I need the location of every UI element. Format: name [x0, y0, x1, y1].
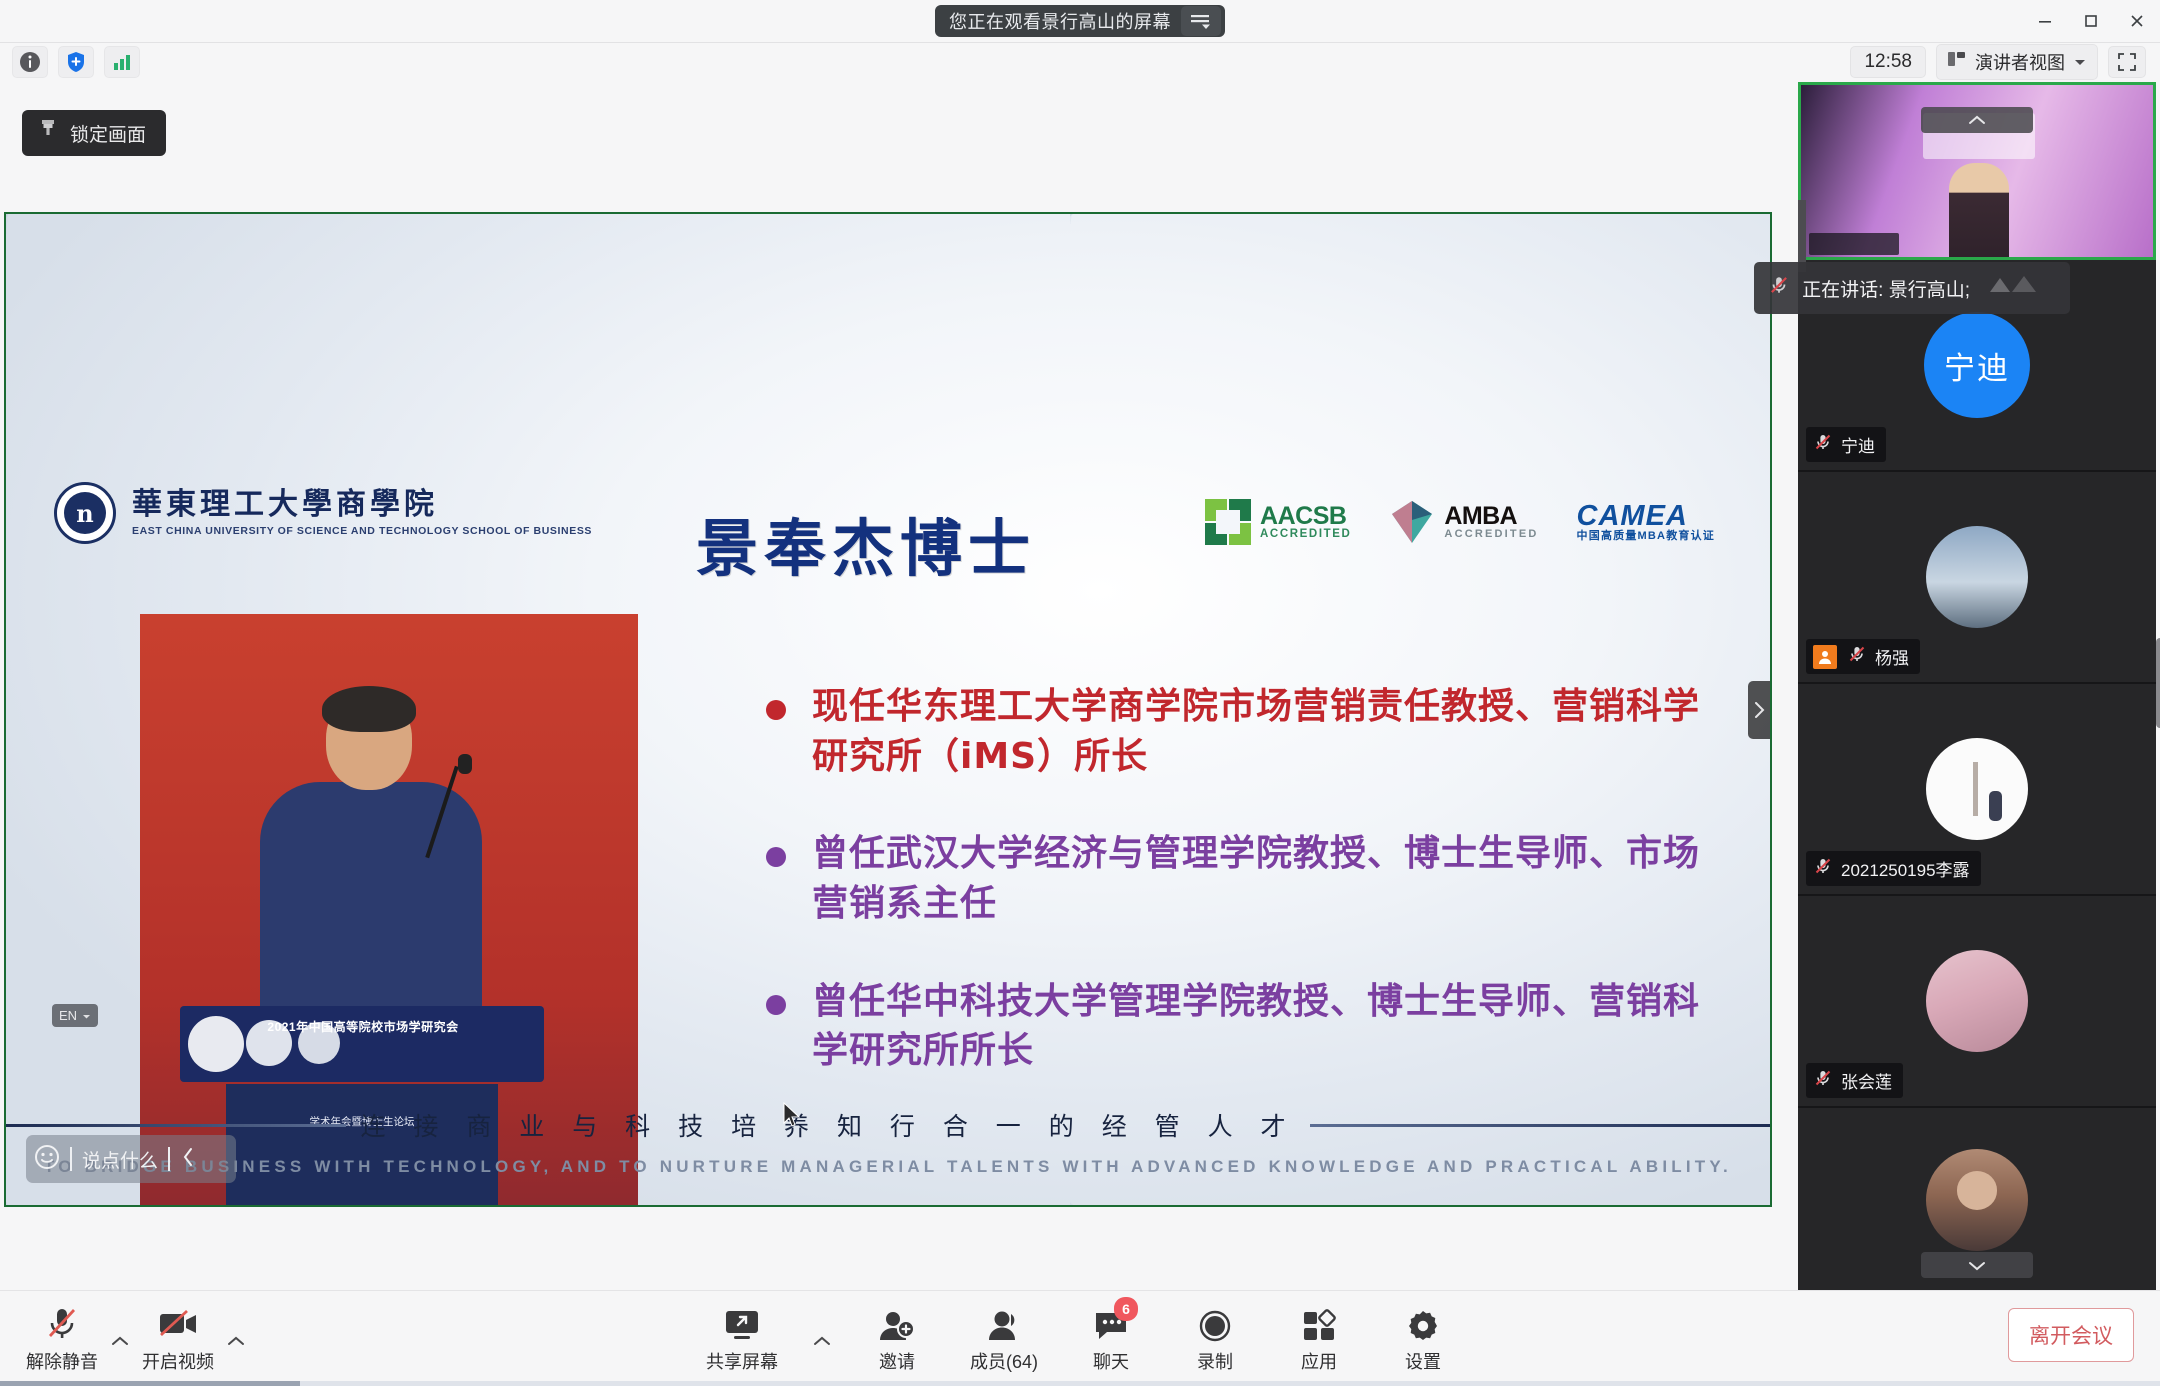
- aacsb-mark-icon: [1205, 499, 1251, 545]
- slogan-cn: 连 接 商 业 与 科 技 培 养 知 行 合 一 的 经 管 人 才: [346, 1107, 1309, 1143]
- slogan-en: TO BRIDGE BUSINESS WITH TECHNOLOGY, AND …: [6, 1157, 1770, 1177]
- participants-label: 成员(64): [970, 1348, 1038, 1374]
- meeting-controls-bar: 解除静音 开启视频 共享屏幕 邀请: [0, 1290, 2160, 1386]
- shared-screen-stage[interactable]: n 華東理工大學商學院 EAST CHINA UNIVERSITY OF SCI…: [4, 212, 1772, 1207]
- amba-logo: AMBA ACCREDITED: [1389, 499, 1538, 545]
- controls-left-group: 解除静音 开启视频: [0, 1299, 246, 1378]
- chat-label: 聊天: [1093, 1348, 1129, 1374]
- school-seal-letter: n: [64, 492, 106, 534]
- mic-muted-icon: [1847, 644, 1867, 669]
- info-icon[interactable]: [12, 46, 48, 78]
- photo-podium-caption: 2021年中国高等院校市场学研究会: [198, 1018, 528, 1036]
- mic-options-caret[interactable]: [110, 1334, 130, 1378]
- toolbar-left-group: [0, 46, 140, 78]
- apps-icon: [1301, 1305, 1337, 1343]
- video-toggle-label: 开启视频: [142, 1348, 214, 1374]
- camea-name: CAMEA: [1577, 502, 1715, 531]
- stage-expand-handle[interactable]: [1748, 681, 1770, 739]
- aacsb-name: AACSB: [1260, 504, 1351, 529]
- bullet-dot-icon: [766, 995, 786, 1015]
- meeting-clock: 12:58: [1850, 46, 1926, 78]
- video-options-caret[interactable]: [226, 1334, 246, 1378]
- chat-unread-badge: 6: [1114, 1297, 1138, 1321]
- video-off-icon: [156, 1305, 200, 1343]
- hamburger-icon[interactable]: [1181, 6, 1221, 36]
- share-options-caret[interactable]: [812, 1334, 832, 1378]
- participant-tile-presenter[interactable]: [1798, 82, 2156, 260]
- caption-language-label: EN: [59, 1008, 77, 1023]
- participant-tile[interactable]: [1798, 1108, 2156, 1290]
- screen-share-notice[interactable]: 您正在观看景行高山的屏幕: [935, 5, 1225, 37]
- mic-muted-icon: [1768, 274, 1790, 302]
- caption-language-chip[interactable]: EN: [52, 1004, 98, 1027]
- record-icon: [1197, 1305, 1233, 1343]
- invite-label: 邀请: [879, 1348, 915, 1374]
- pin-icon: [38, 118, 58, 148]
- layout-icon: [1947, 50, 1967, 73]
- chevron-down-icon: [2073, 51, 2087, 72]
- participant-name-chip: 张会莲: [1806, 1063, 1903, 1098]
- school-seal-icon: n: [54, 482, 116, 544]
- mouse-cursor: [782, 1102, 802, 1133]
- participant-name: 宁迪: [1841, 432, 1875, 457]
- chat-input[interactable]: 说点什么: [82, 1146, 158, 1173]
- settings-gear-icon: [1405, 1305, 1441, 1343]
- view-mode-selector[interactable]: 演讲者视图: [1936, 44, 2098, 80]
- chevron-up-icon: [812, 1335, 832, 1347]
- accreditation-logos: AACSB ACCREDITED AMBA ACCREDITED: [1205, 499, 1715, 545]
- bullet-text: 曾任华中科技大学管理学院教授、博士生导师、营销科学研究所所长: [812, 977, 1726, 1076]
- school-logo: n 華東理工大學商學院 EAST CHINA UNIVERSITY OF SCI…: [54, 482, 592, 544]
- settings-label: 设置: [1405, 1348, 1441, 1374]
- amba-mark-icon: [1389, 499, 1435, 545]
- controls-center-group: 共享屏幕 邀请 成员(64) 6 聊天 录: [698, 1299, 1462, 1378]
- school-name-cn: 華東理工大學商學院: [132, 489, 592, 521]
- lock-screen-label: 锁定画面: [70, 120, 146, 147]
- presentation-slide: n 華東理工大學商學院 EAST CHINA UNIVERSITY OF SCI…: [6, 214, 1770, 1205]
- school-name-en: EAST CHINA UNIVERSITY OF SCIENCE AND TEC…: [132, 525, 592, 537]
- chevron-up-icon: [110, 1335, 130, 1347]
- shield-plus-icon[interactable]: [58, 46, 94, 78]
- mic-muted-icon: [1813, 1068, 1833, 1093]
- slide-slogan: 连 接 商 业 与 科 技 培 养 知 行 合 一 的 经 管 人 才: [6, 1107, 1770, 1143]
- screen-share-notice-text: 您正在观看景行高山的屏幕: [949, 8, 1171, 34]
- record-button[interactable]: 录制: [1176, 1299, 1254, 1378]
- mute-toggle-label: 解除静音: [26, 1348, 98, 1374]
- composer-caret: [70, 1147, 72, 1171]
- screen-share-icon: [722, 1305, 762, 1343]
- participant-name: 张会莲: [1841, 1068, 1892, 1093]
- avatar: 宁迪: [1924, 312, 2030, 418]
- chat-composer[interactable]: 说点什么: [26, 1135, 236, 1183]
- participant-name-chip: 2021250195李露: [1806, 851, 1981, 886]
- view-mode-label: 演讲者视图: [1975, 49, 2065, 75]
- avatar: [1926, 738, 2028, 840]
- aacsb-logo: AACSB ACCREDITED: [1205, 499, 1351, 545]
- mute-toggle-button[interactable]: 解除静音: [18, 1299, 106, 1378]
- apps-label: 应用: [1301, 1348, 1337, 1374]
- bullet-dot-icon: [766, 700, 786, 720]
- lock-screen-button[interactable]: 锁定画面: [22, 110, 166, 156]
- bullet-dot-icon: [766, 847, 786, 867]
- apps-button[interactable]: 应用: [1280, 1299, 1358, 1378]
- slide-bullet-list: 现任华东理工大学商学院市场营销责任教授、营销科学研究所（iMS）所长 曾任武汉大…: [766, 682, 1726, 1124]
- chat-button[interactable]: 6 聊天: [1072, 1299, 1150, 1378]
- speaking-tooltip-text: 正在讲话: 景行高山;: [1802, 275, 1970, 302]
- chevron-right-icon: [1754, 702, 1765, 718]
- avatar: [1926, 950, 2028, 1052]
- bullet-item: 曾任武汉大学经济与管理学院教授、博士生导师、市场营销系主任: [766, 829, 1726, 928]
- slogan-rule-right: [1310, 1124, 1770, 1127]
- bullet-item: 现任华东理工大学商学院市场营销责任教授、营销科学研究所（iMS）所长: [766, 682, 1726, 781]
- presenter-thumbnail-icon: [1982, 270, 2052, 306]
- stage-scrollbar[interactable]: [2156, 638, 2160, 728]
- secondary-toolbar: 12:58 演讲者视图: [0, 42, 2160, 80]
- avatar: [1926, 526, 2028, 628]
- invite-person-icon: [878, 1305, 916, 1343]
- participant-name: 杨强: [1875, 644, 1909, 669]
- video-toggle-button[interactable]: 开启视频: [134, 1299, 222, 1378]
- camea-logo: CAMEA 中国高质量MBA教育认证: [1577, 502, 1715, 542]
- camea-sub: 中国高质量MBA教育认证: [1577, 531, 1715, 542]
- emoji-smile-icon[interactable]: [34, 1144, 60, 1175]
- aacsb-sub: ACCREDITED: [1260, 529, 1351, 541]
- toolbar-right-group: 12:58 演讲者视图: [1850, 44, 2160, 80]
- share-screen-button[interactable]: 共享屏幕: [698, 1299, 786, 1378]
- settings-button[interactable]: 设置: [1384, 1299, 1462, 1378]
- strip-collapse-down[interactable]: [1921, 1252, 2033, 1278]
- participant-tile[interactable]: 2021250195李露: [1798, 684, 2156, 896]
- chevron-down-icon: [82, 1008, 91, 1023]
- close-icon[interactable]: [2114, 0, 2160, 42]
- participant-name: 2021250195李露: [1841, 856, 1970, 881]
- maximize-icon[interactable]: [2068, 0, 2114, 42]
- participant-name-chip: 杨强: [1806, 639, 1920, 674]
- participants-button[interactable]: 成员(64): [962, 1299, 1046, 1378]
- bullet-text: 曾任武汉大学经济与管理学院教授、博士生导师、市场营销系主任: [812, 829, 1726, 928]
- bar-chart-icon[interactable]: [104, 46, 140, 78]
- slide-title: 景奉杰博士: [696, 498, 1036, 588]
- chevron-left-icon[interactable]: [180, 1146, 196, 1173]
- chevron-up-icon: [226, 1335, 246, 1347]
- window-controls: [2022, 0, 2160, 42]
- participants-icon: [985, 1305, 1023, 1343]
- title-bar: 您正在观看景行高山的屏幕: [0, 0, 2160, 42]
- fullscreen-icon[interactable]: [2108, 46, 2146, 78]
- bullet-item: 曾任华中科技大学管理学院教授、博士生导师、营销科学研究所所长: [766, 977, 1726, 1076]
- composer-caret-end: [168, 1147, 170, 1171]
- participant-tile[interactable]: 杨强: [1798, 472, 2156, 684]
- avatar: [1926, 1149, 2028, 1251]
- mic-muted-icon: [1813, 432, 1833, 457]
- mic-muted-icon: [44, 1305, 80, 1343]
- amba-name: AMBA: [1444, 504, 1538, 529]
- participant-tile[interactable]: 张会莲: [1798, 896, 2156, 1108]
- chevron-down-icon: [1968, 1260, 1986, 1271]
- bottom-progress-indicator: [0, 1381, 2160, 1386]
- mic-muted-icon: [1813, 856, 1833, 881]
- share-screen-label: 共享屏幕: [706, 1348, 778, 1374]
- host-badge-icon: [1813, 645, 1837, 669]
- chevron-up-icon: [1968, 115, 1986, 126]
- leave-meeting-button[interactable]: 离开会议: [2008, 1308, 2134, 1362]
- speaking-tooltip: 正在讲话: 景行高山;: [1754, 262, 2070, 314]
- amba-sub: ACCREDITED: [1444, 529, 1538, 540]
- record-label: 录制: [1197, 1348, 1233, 1374]
- slogan-rule-left: [6, 1124, 346, 1127]
- bullet-text: 现任华东理工大学商学院市场营销责任教授、营销科学研究所（iMS）所长: [812, 682, 1726, 781]
- minimize-icon[interactable]: [2022, 0, 2068, 42]
- invite-button[interactable]: 邀请: [858, 1299, 936, 1378]
- participant-name-chip: 宁迪: [1806, 427, 1886, 462]
- strip-collapse-up[interactable]: [1921, 107, 2033, 133]
